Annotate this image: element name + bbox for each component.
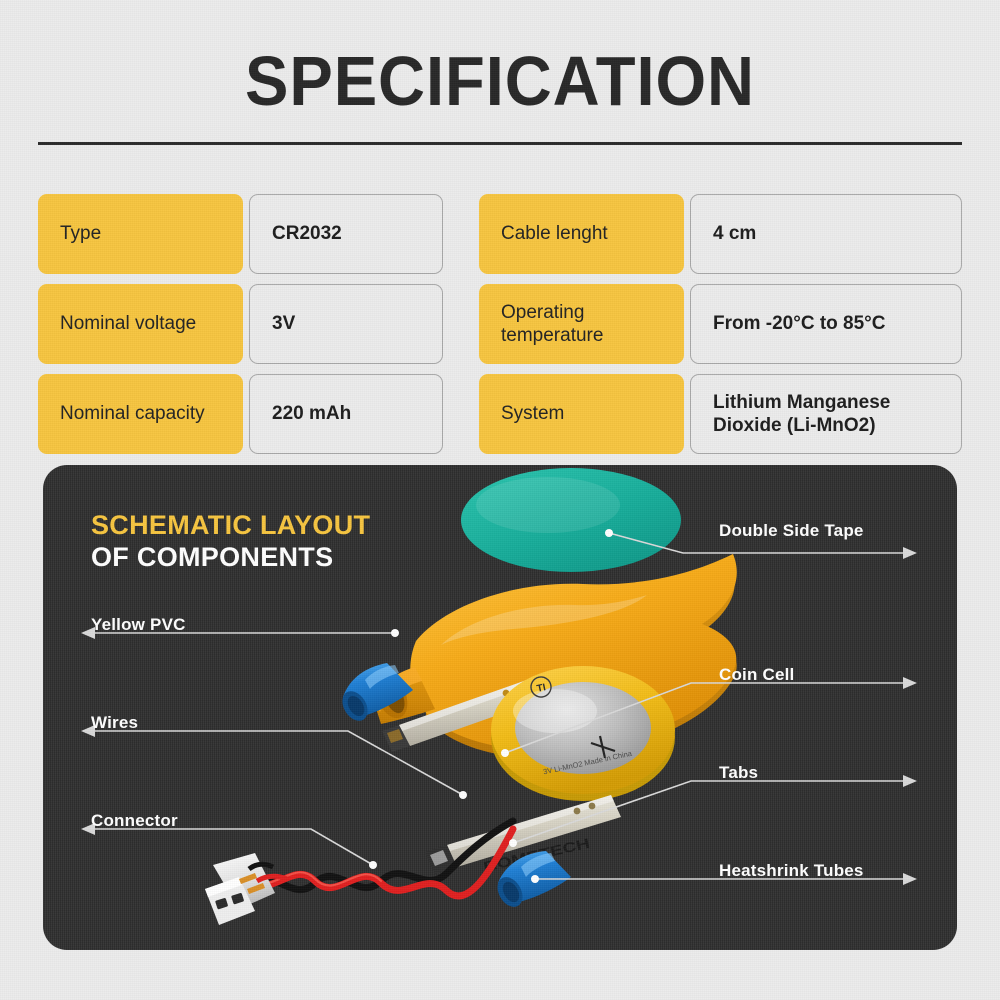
- callout-label-yellow-pvc: Yellow PVC: [91, 615, 186, 635]
- schematic-panel: ROMETECH 3V Li-MnO2 Made in China TI: [43, 465, 957, 950]
- spec-table: Type CR2032 Cable lenght 4 cm Nominal vo…: [38, 194, 962, 454]
- leader-wires: [93, 731, 463, 795]
- arrowhead-tabs: [903, 775, 917, 787]
- schematic-heading-line2: OF COMPONENTS: [91, 542, 370, 574]
- callout-label-heatshrink-tubes: Heatshrink Tubes: [719, 861, 864, 881]
- spec-value-nominal-capacity: 220 mAh: [249, 374, 443, 454]
- spec-label-cable-lenght: Cable lenght: [479, 194, 684, 274]
- spec-value-nominal-voltage: 3V: [249, 284, 443, 364]
- dot-double-side-tape: [605, 529, 613, 537]
- dot-tabs: [509, 839, 517, 847]
- spec-label-nominal-voltage: Nominal voltage: [38, 284, 243, 364]
- page-title: SPECIFICATION: [35, 46, 965, 116]
- callout-label-tabs: Tabs: [719, 763, 758, 783]
- leader-connector: [93, 829, 373, 865]
- dot-connector: [369, 861, 377, 869]
- leader-coin-cell: [505, 683, 905, 753]
- spec-label-operating-temperature: Operating temperature: [479, 284, 684, 364]
- callout-label-double-side-tape: Double Side Tape: [719, 521, 864, 541]
- spec-value-operating-temperature: From -20°C to 85°C: [690, 284, 962, 364]
- column-gap: [443, 284, 479, 364]
- callout-label-connector: Connector: [91, 811, 178, 831]
- spec-value-type: CR2032: [249, 194, 443, 274]
- column-gap: [443, 194, 479, 274]
- spec-value-system: Lithium Manganese Dioxide (Li-MnO2): [690, 374, 962, 454]
- spec-value-cable-lenght: 4 cm: [690, 194, 962, 274]
- callout-label-coin-cell: Coin Cell: [719, 665, 794, 685]
- dot-yellow-pvc: [391, 629, 399, 637]
- column-gap: [443, 374, 479, 454]
- callout-label-wires: Wires: [91, 713, 138, 733]
- spec-label-system: System: [479, 374, 684, 454]
- leader-tabs: [513, 781, 905, 843]
- dot-coin-cell: [501, 749, 509, 757]
- spec-label-nominal-capacity: Nominal capacity: [38, 374, 243, 454]
- schematic-heading-line1: SCHEMATIC LAYOUT: [91, 510, 370, 542]
- dot-wires: [459, 791, 467, 799]
- title-divider: [38, 142, 962, 145]
- dot-heatshrink-tubes: [531, 875, 539, 883]
- arrowhead-heatshrink-tubes: [903, 873, 917, 885]
- schematic-heading: SCHEMATIC LAYOUT OF COMPONENTS: [91, 510, 370, 574]
- spec-label-type: Type: [38, 194, 243, 274]
- arrowhead-double-side-tape: [903, 547, 917, 559]
- arrowhead-coin-cell: [903, 677, 917, 689]
